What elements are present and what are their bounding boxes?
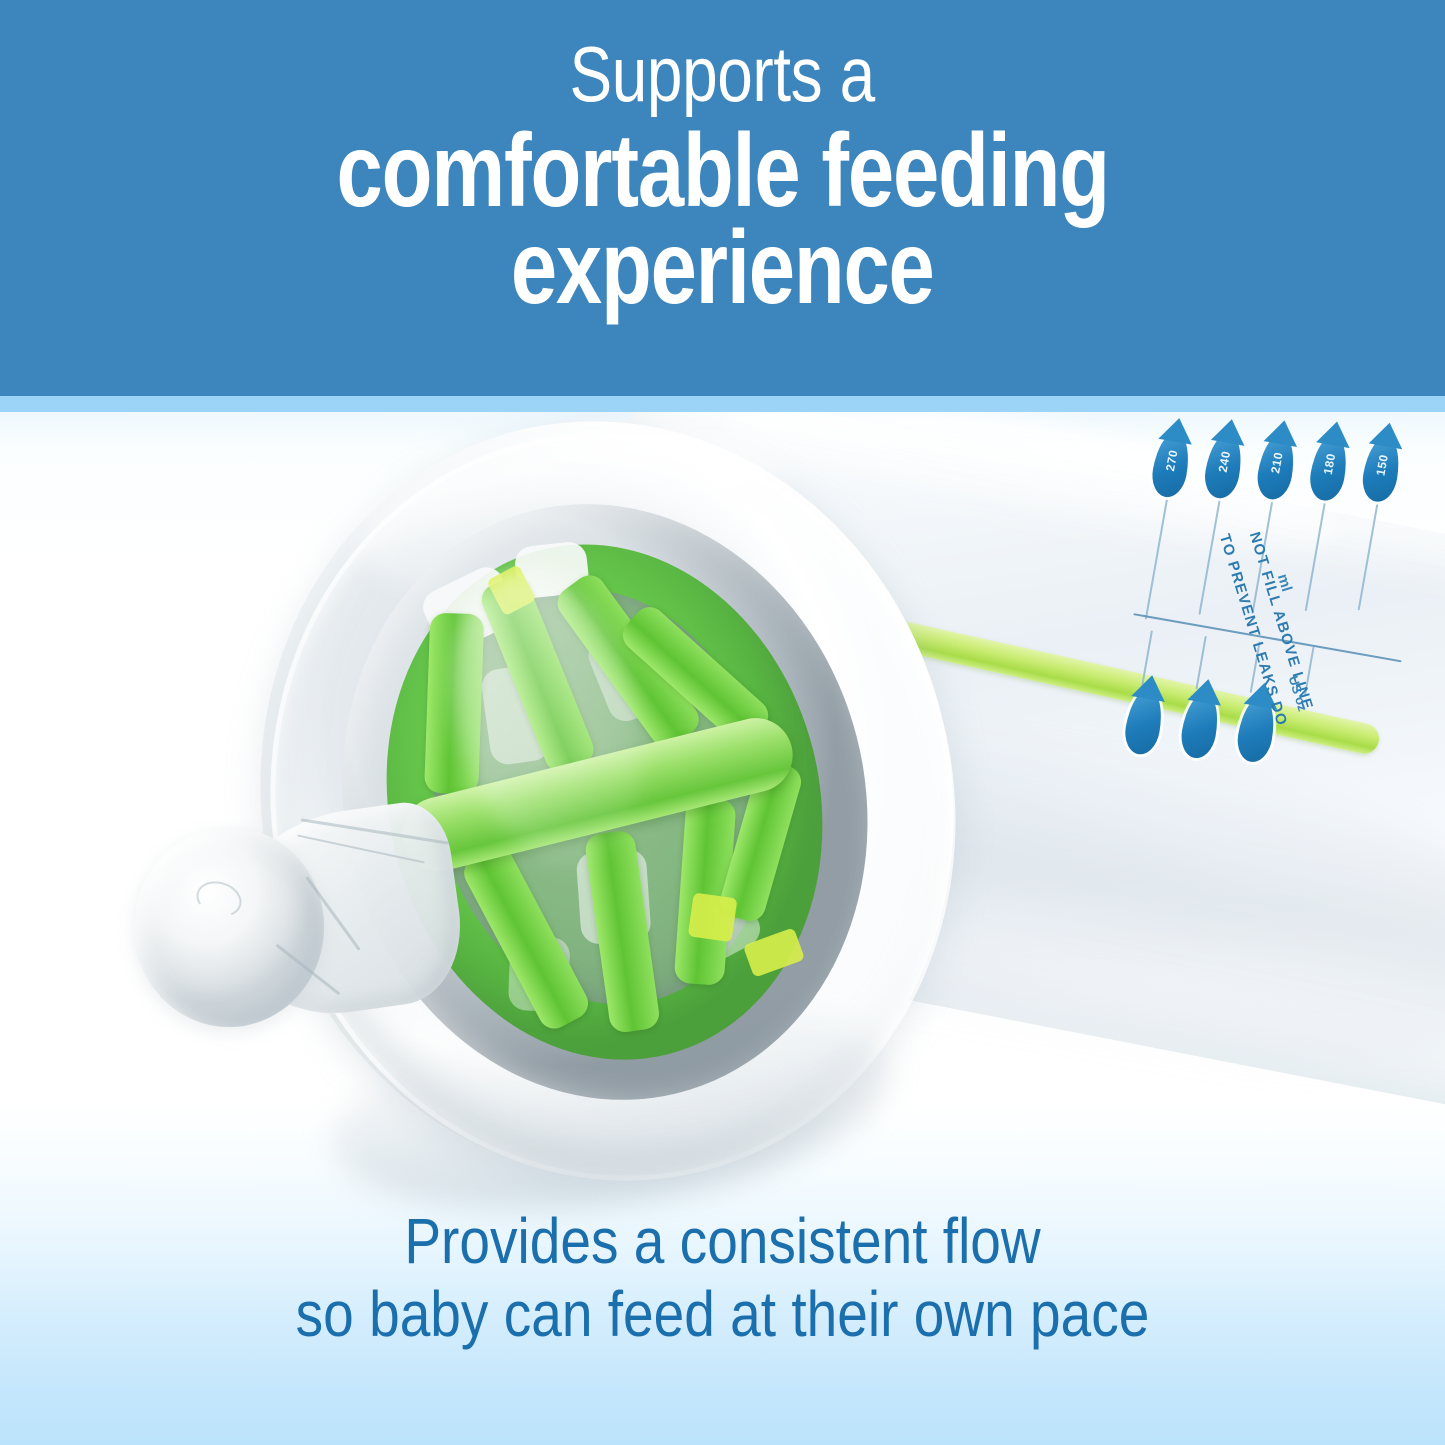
scale-marker: 210 [1254, 431, 1299, 502]
scale-marker-label: 210 [1267, 445, 1287, 481]
headline-line-1: Supports a [570, 36, 875, 112]
header-banner: Supports a comfortable feeding experienc… [0, 0, 1445, 396]
caption-block: Provides a consistent flow so baby can f… [0, 1205, 1445, 1351]
scale-marker-lower [1178, 690, 1223, 761]
scale-marker: 150 [1359, 434, 1404, 505]
scale-marker: 240 [1201, 430, 1246, 501]
nipple-tip [134, 827, 324, 1027]
scale-marker-label: 150 [1372, 447, 1392, 483]
scale-marker-label: 240 [1215, 444, 1235, 480]
product-feature-card: Supports a comfortable feeding experienc… [0, 0, 1445, 1445]
scale-marker-label: 270 [1162, 442, 1182, 478]
scale-marker: 270 [1149, 429, 1194, 500]
header-accent-strip [0, 396, 1445, 412]
headline-line-3: experience [511, 215, 934, 321]
caption-line-2: so baby can feed at their own pace [101, 1278, 1344, 1351]
scale-marker-label: 180 [1320, 446, 1340, 482]
scale-marker: 180 [1306, 432, 1351, 503]
caption-line-1: Provides a consistent flow [101, 1205, 1344, 1278]
scale-marker-lower [1122, 686, 1167, 757]
